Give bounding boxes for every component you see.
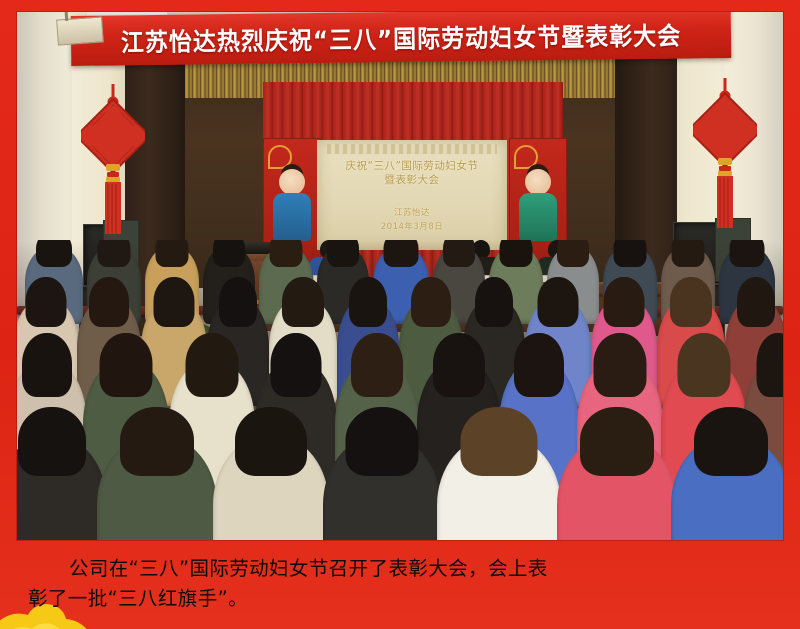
audience-member-head <box>270 240 303 267</box>
audience-member-head <box>694 407 768 476</box>
audience-member-head <box>282 277 324 327</box>
audience-member-head <box>670 277 712 327</box>
event-photograph: 庆祝“三八”国际劳动妇女节 暨表彰大会 江苏怡达 2014年3月8日 <box>17 12 783 540</box>
caption-line-2: 彰了一批“三八红旗手”。 <box>28 584 770 614</box>
audience-member-head <box>384 240 419 267</box>
audience-member-head <box>22 333 72 397</box>
audience-member-head <box>18 407 86 476</box>
audience-member-head <box>154 277 195 327</box>
audience-member-head <box>327 240 359 267</box>
audience-member-head <box>36 240 72 267</box>
audience-member-head <box>271 333 322 397</box>
swirl-ornament-icon <box>268 145 292 169</box>
doll-body-icon <box>273 193 311 241</box>
audience-member-head <box>186 333 239 397</box>
projection-screen: 庆祝“三八”国际劳动妇女节 暨表彰大会 江苏怡达 2014年3月8日 <box>317 140 507 250</box>
audience-member-head <box>98 240 131 267</box>
swirl-ornament-icon <box>514 145 538 169</box>
audience-area <box>17 240 783 540</box>
screen-organization: 江苏怡达 <box>317 207 507 220</box>
screen-decorative-band <box>327 144 497 154</box>
caption-line-1: 公司在“三八”国际劳动妇女节召开了表彰大会，会上表 <box>28 554 770 584</box>
ceiling-projector <box>56 16 104 45</box>
audience-member-head <box>604 277 645 327</box>
audience-member-head <box>120 407 194 476</box>
screen-title-line1: 庆祝“三八”国际劳动妇女节 <box>317 160 507 173</box>
doll-head-icon <box>525 169 551 195</box>
audience-member-head <box>580 407 654 476</box>
screen-date: 2014年3月8日 <box>317 221 507 234</box>
audience-member-head <box>235 407 307 476</box>
audience-member-head <box>411 277 451 327</box>
audience-member-head <box>594 333 647 397</box>
audience-member-head <box>213 240 245 267</box>
celebration-banner: 江苏怡达热烈庆祝“三八”国际劳动妇女节暨表彰大会 <box>71 12 732 66</box>
audience-member-head <box>514 333 564 397</box>
audience-member-head <box>461 407 538 476</box>
audience-member-head <box>156 240 189 267</box>
audience-member-head <box>351 333 403 397</box>
screen-title-line2: 暨表彰大会 <box>317 174 507 187</box>
caption-block: 公司在“三八”国际劳动妇女节召开了表彰大会，会上表 彰了一批“三八红旗手”。 <box>0 544 800 629</box>
audience-member-head <box>89 277 129 327</box>
audience-member-head <box>346 407 419 476</box>
audience-member-head <box>443 240 475 267</box>
audience-member-head <box>557 240 589 267</box>
audience-member-head <box>538 277 579 327</box>
audience-member-head <box>614 240 647 267</box>
poster-page: 庆祝“三八”国际劳动妇女节 暨表彰大会 江苏怡达 2014年3月8日 <box>0 0 800 629</box>
audience-member-head <box>475 277 513 327</box>
doll-head-icon <box>279 169 305 195</box>
doll-body-icon <box>519 193 557 241</box>
audience-member-head <box>500 240 533 267</box>
celebration-banner-text: 江苏怡达热烈庆祝“三八”国际劳动妇女节暨表彰大会 <box>121 15 682 59</box>
audience-member-head <box>349 277 387 327</box>
audience-member-head <box>730 240 765 267</box>
audience-member-head <box>678 333 731 397</box>
audience-member-head <box>737 277 775 327</box>
audience-member-head <box>219 277 257 327</box>
audience-member-head <box>433 333 485 397</box>
audience-member-head <box>672 240 705 267</box>
audience-member-head <box>26 277 67 327</box>
audience-member-head <box>100 333 153 397</box>
